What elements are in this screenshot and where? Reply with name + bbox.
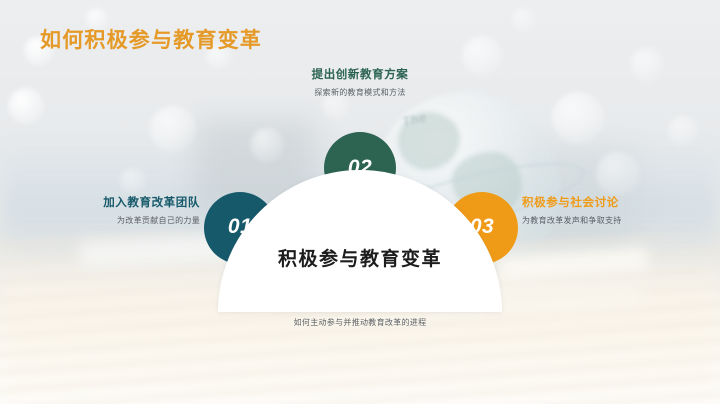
- bottom-caption: 如何主动参与并推动教育改革的进程: [210, 317, 510, 328]
- callout-02-subtitle: 探索新的教育模式和方法: [290, 87, 430, 98]
- callout-03-title: 积极参与社会讨论: [522, 194, 672, 210]
- dome-diagram: 02 01 03 积极参与教育变革 提出创新教育方案 探索新的教育模式和方法 加…: [0, 0, 720, 404]
- center-dome: [218, 170, 502, 312]
- callout-02-title: 提出创新教育方案: [290, 66, 430, 82]
- slide-canvas: The 如何积极参与教育变革 02 01 03 积极参与教育变革 提出创新教育方…: [0, 0, 720, 404]
- callout-02: 提出创新教育方案 探索新的教育模式和方法: [290, 66, 430, 98]
- callout-01-subtitle: 为改革贡献自己的力量: [72, 215, 200, 226]
- callout-03-subtitle: 为教育改革发声和争取支持: [522, 215, 672, 226]
- callout-03: 积极参与社会讨论 为教育改革发声和争取支持: [522, 194, 672, 226]
- callout-01: 加入教育改革团队 为改革贡献自己的力量: [72, 194, 200, 226]
- callout-01-title: 加入教育改革团队: [72, 194, 200, 210]
- center-dome-label: 积极参与教育变革: [218, 244, 502, 271]
